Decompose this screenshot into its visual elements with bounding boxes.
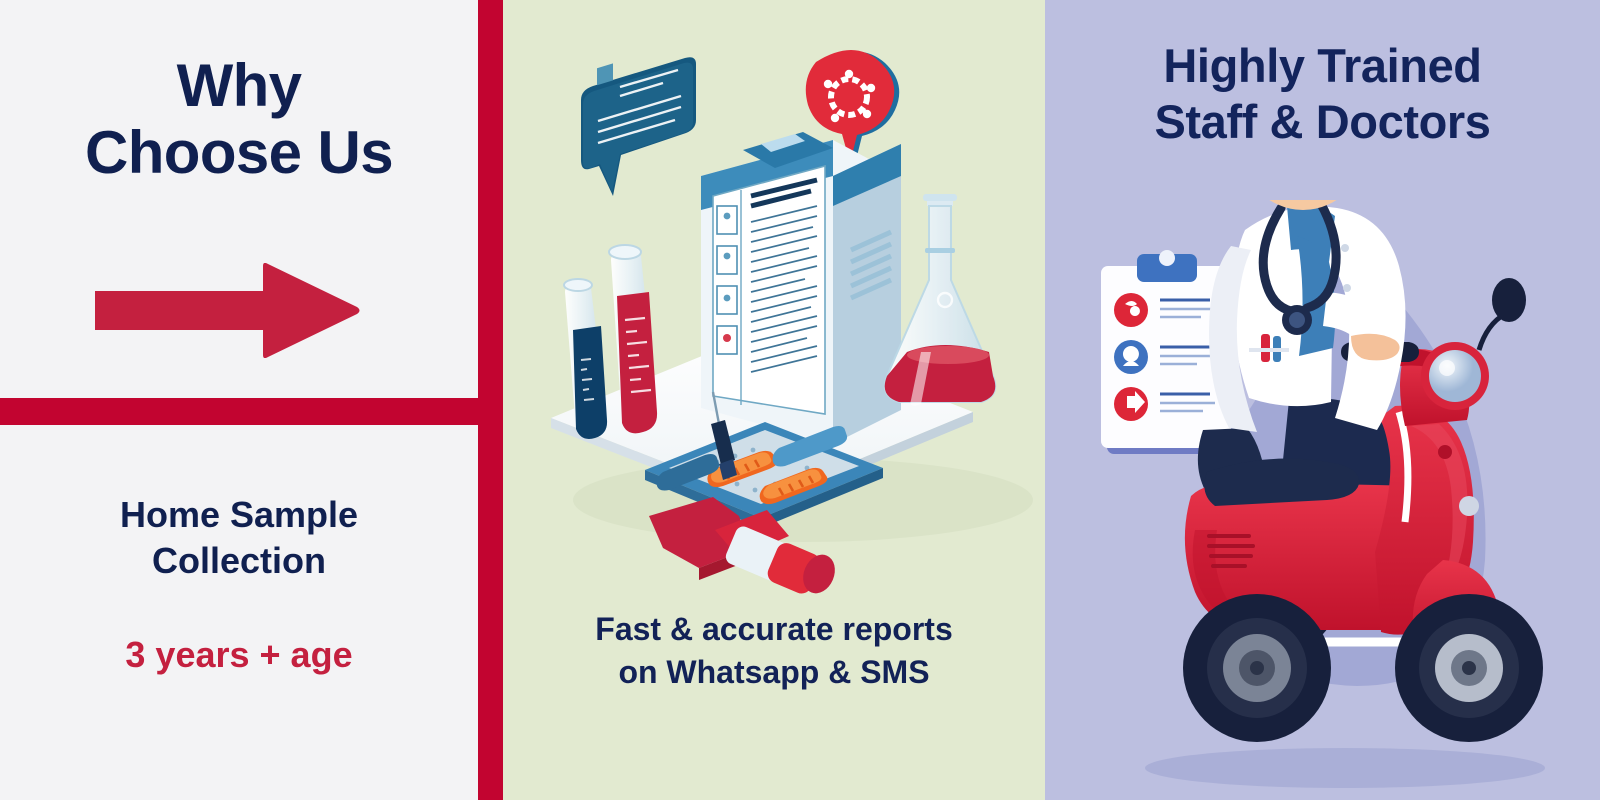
isometric-lab-illustration <box>503 0 1045 620</box>
wheel-icon-front <box>1395 594 1543 742</box>
scooter-cap <box>1459 496 1479 516</box>
wheel-icon <box>1183 594 1331 742</box>
doctor-avatar <box>1237 200 1369 210</box>
staff-doctors-title: Highly Trained Staff & Doctors <box>1045 38 1600 151</box>
home-sample-line-2: Collection <box>0 538 478 584</box>
staff-title-line-2: Staff & Doctors <box>1045 94 1600 150</box>
age-eligibility-note: 3 years + age <box>0 634 478 676</box>
speech-bubble-report-icon <box>581 57 696 196</box>
clipboard-report-icon <box>701 132 901 444</box>
scooter-shadow <box>1145 748 1545 788</box>
page-title: Why Choose Us <box>0 52 478 186</box>
fast-reports-line-2: on Whatsapp & SMS <box>517 651 1031 694</box>
home-sample-collection-title: Home Sample Collection <box>0 492 478 584</box>
arrow-right-icon <box>95 263 360 358</box>
page-title-line-2: Choose Us <box>0 119 478 186</box>
stethoscope-diaphragm <box>1289 312 1305 328</box>
panel-highly-trained-staff: Highly Trained Staff & Doctors <box>1045 0 1600 800</box>
page-title-line-1: Why <box>0 52 478 119</box>
panel-fast-reports: Fast & accurate reports on Whatsapp & SM… <box>503 0 1045 800</box>
conical-flask-icon <box>885 194 996 406</box>
headlight-icon <box>1421 342 1489 410</box>
divider-horizontal-red <box>0 398 484 425</box>
fast-reports-line-1: Fast & accurate reports <box>517 608 1031 651</box>
fast-reports-caption: Fast & accurate reports on Whatsapp & SM… <box>517 608 1031 694</box>
home-sample-line-1: Home Sample <box>0 492 478 538</box>
why-choose-us-banner: Why Choose Us Home Sample Collection 3 y… <box>0 0 1600 800</box>
doctor-on-scooter-illustration <box>1045 200 1600 800</box>
staff-title-line-1: Highly Trained <box>1045 38 1600 94</box>
scooter-badge <box>1438 445 1452 459</box>
